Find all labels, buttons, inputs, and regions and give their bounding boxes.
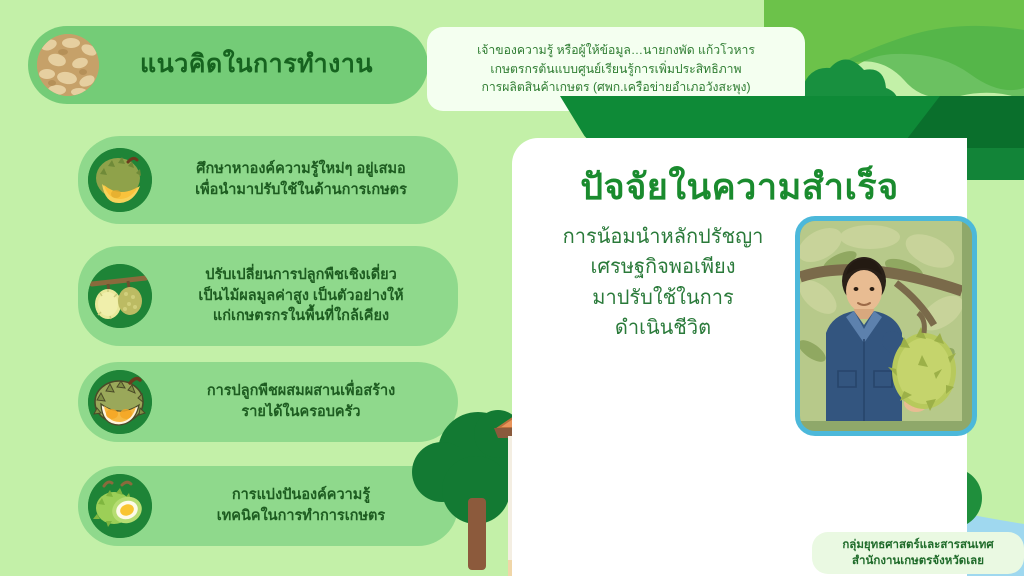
card-body-line: การน้อมนำหลักปรัชญา	[528, 222, 798, 252]
info-line: เจ้าของความรู้ หรือผู้ให้ข้อมูล…นายกงพัด…	[477, 41, 755, 60]
success-factors-card: ปัจจัยในความสำเร็จ การน้อมนำหลักปรัชญา เ…	[512, 138, 967, 576]
card-body-line: มาปรับใช้ในการ	[528, 283, 798, 313]
slide-canvas: แนวคิดในการทำงาน เจ้าของความรู้ หรือผู้ใ…	[0, 0, 1024, 576]
card-body-line: ดำเนินชีวิต	[528, 313, 798, 343]
durian-half-icon	[88, 148, 152, 212]
list-item: ศึกษาหาองค์ความรู้ใหม่ๆ อยู่เสมอ เพื่อนำ…	[78, 136, 458, 224]
organization-footer-badge: กลุ่มยุทธศาสตร์และสารสนเทศ สำนักงานเกษตร…	[812, 532, 1024, 574]
durian-flesh-photo-icon	[37, 34, 99, 96]
info-line: การผลิตสินค้าเกษตร (ศพก.เครือข่ายอำเภอวั…	[481, 78, 750, 97]
card-title: ปัจจัยในความสำเร็จ	[512, 158, 967, 215]
card-body: การน้อมนำหลักปรัชญา เศรษฐกิจพอเพียง มาปร…	[528, 222, 798, 344]
footer-line: สำนักงานเกษตรจังหวัดเลย	[852, 553, 984, 569]
info-line: เกษตรกรต้นแบบศูนย์เรียนรู้การเพิ่มประสิท…	[490, 60, 741, 79]
list-item-text: ศึกษาหาองค์ความรู้ใหม่ๆ อยู่เสมอ เพื่อนำ…	[152, 159, 458, 200]
list-item-line: แก่เกษตรกรในพื้นที่ใกล้เคียง	[158, 306, 444, 327]
header-pill: แนวคิดในการทำงาน	[28, 26, 428, 104]
list-item-text: ปรับเปลี่ยนการปลูกพืชเชิงเดี่ยว เป็นไม้ผ…	[152, 265, 458, 327]
durian-sliced-icon	[88, 474, 152, 538]
list-item-line: ศึกษาหาองค์ความรู้ใหม่ๆ อยู่เสมอ	[158, 159, 444, 180]
list-item-line: เพื่อนำมาปรับใช้ในด้านการเกษตร	[158, 180, 444, 201]
card-body-line: เศรษฐกิจพอเพียง	[528, 252, 798, 282]
list-item-line: เป็นไม้ผลมูลค่าสูง เป็นตัวอย่างให้	[158, 286, 444, 307]
durian-open-icon	[88, 370, 152, 434]
farmer-holding-durian-photo	[795, 216, 977, 436]
header-title: แนวคิดในการทำงาน	[99, 51, 428, 79]
durian-on-branch-icon	[88, 264, 152, 328]
list-item-line: ปรับเปลี่ยนการปลูกพืชเชิงเดี่ยว	[158, 265, 444, 286]
footer-line: กลุ่มยุทธศาสตร์และสารสนเทศ	[842, 537, 993, 553]
